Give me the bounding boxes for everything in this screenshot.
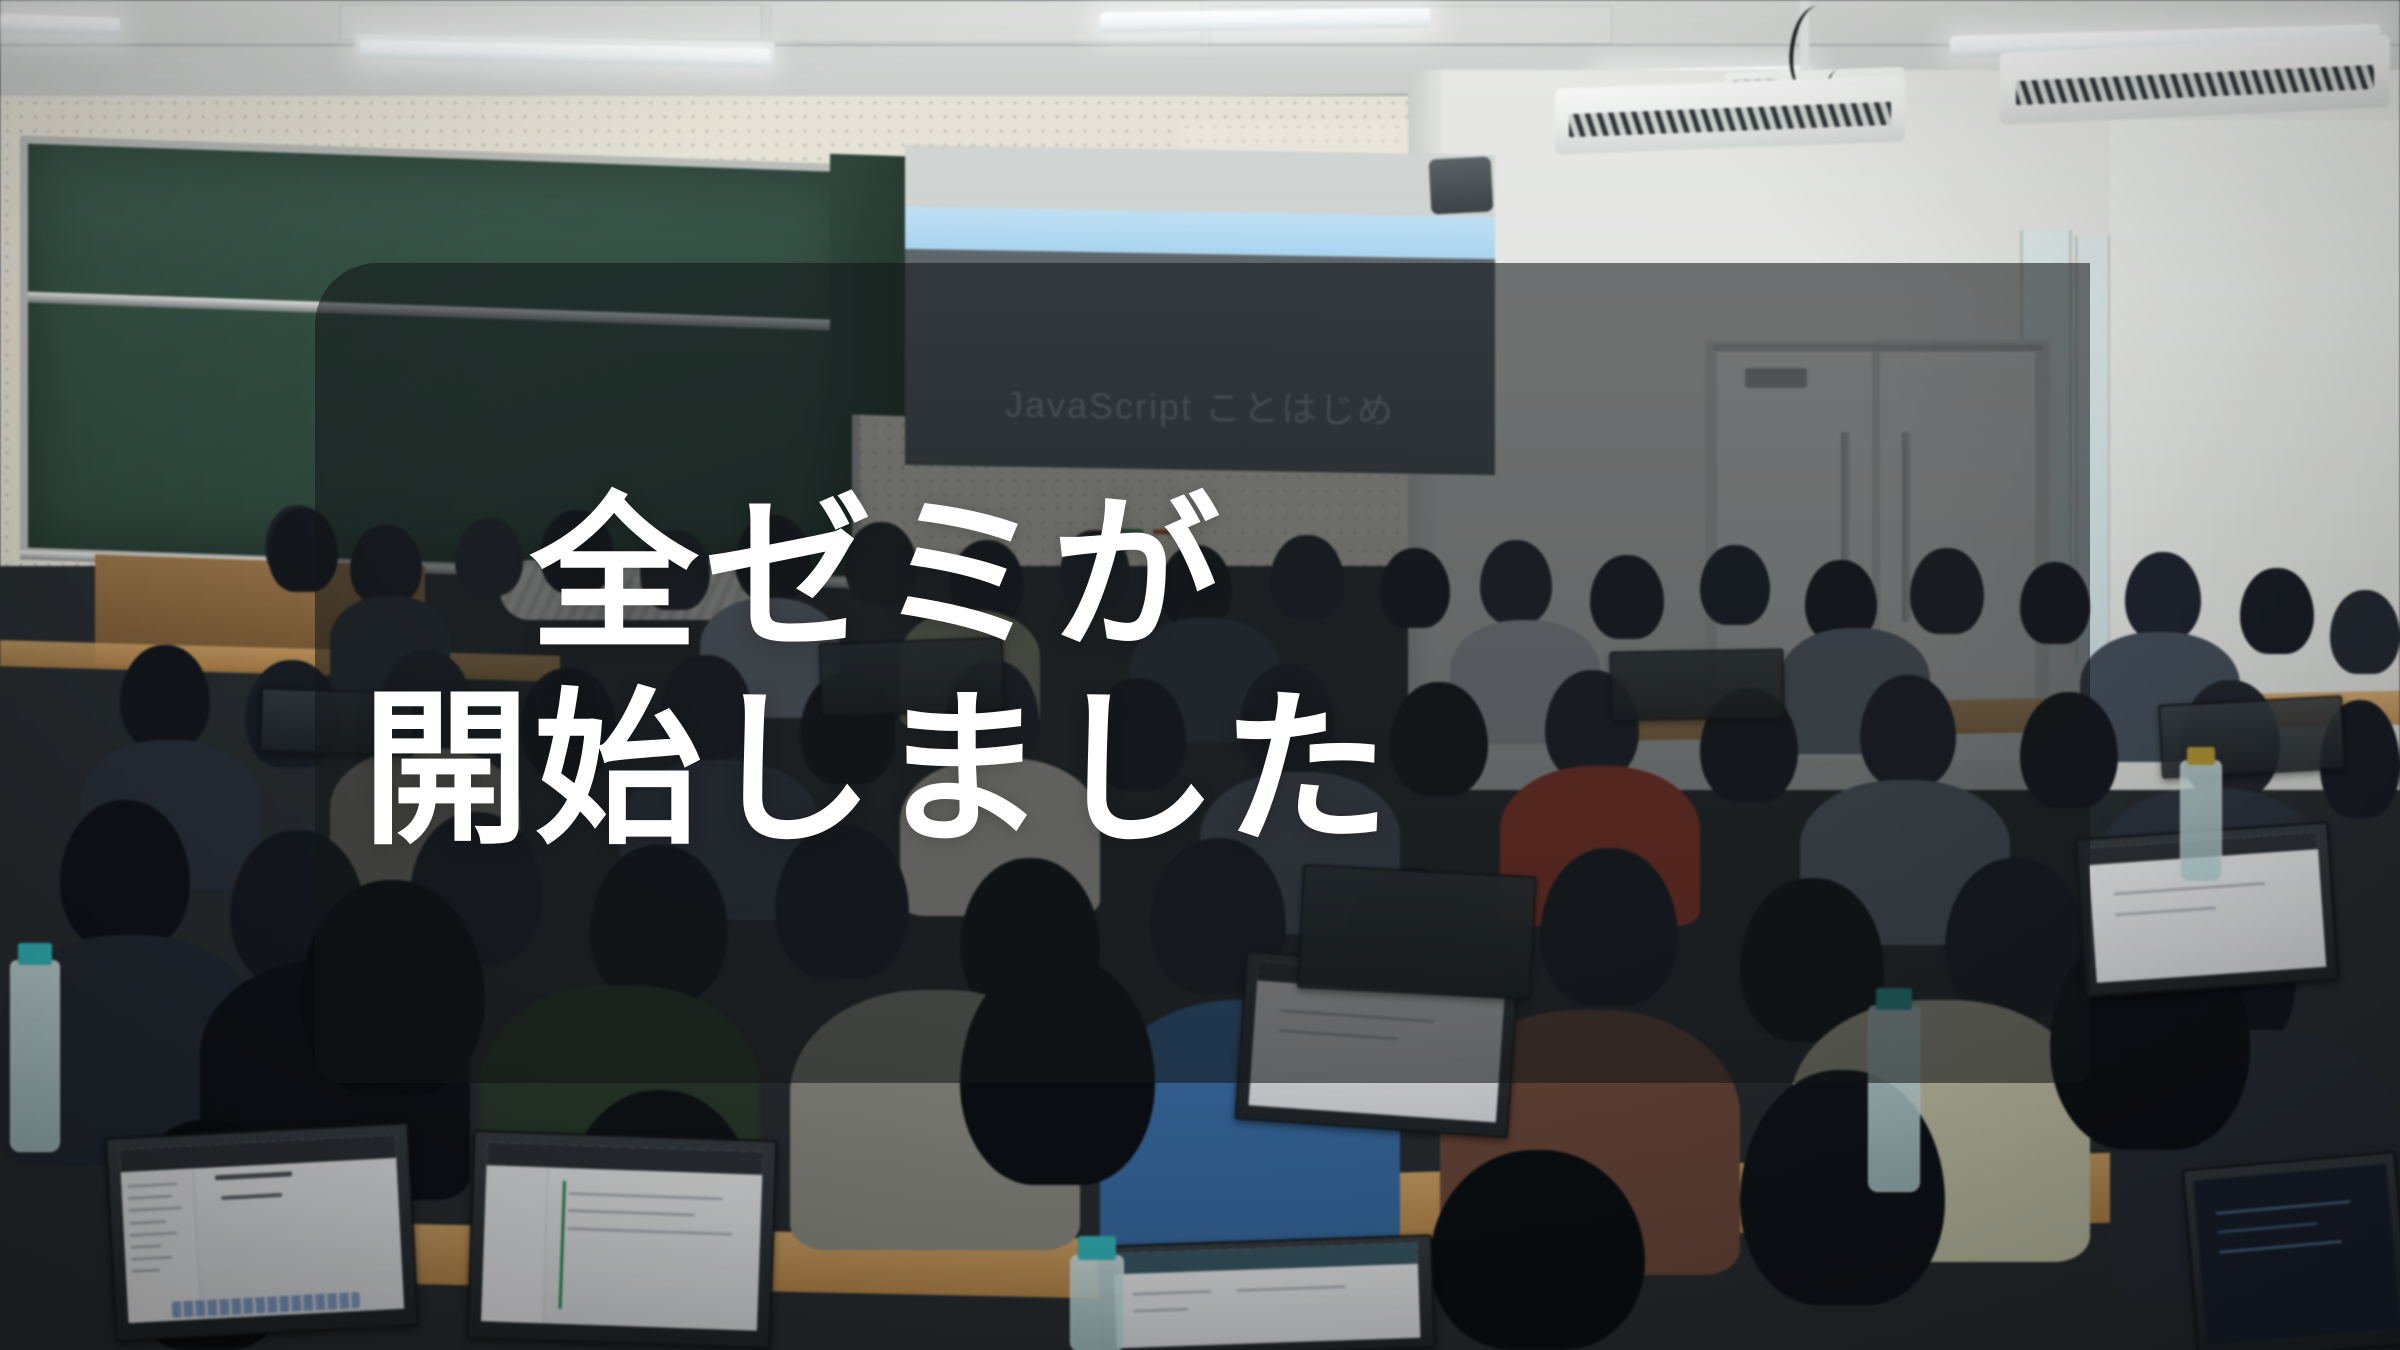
attendee-head xyxy=(60,800,190,950)
attendee-head-front xyxy=(1430,1150,1645,1350)
laptop-sidebar xyxy=(481,1166,548,1323)
laptop-screen xyxy=(481,1142,763,1330)
attendee-head xyxy=(2125,552,2201,640)
wall-speaker xyxy=(1429,156,1494,214)
headline-line-1: 全ゼミが xyxy=(530,478,2090,673)
laptop xyxy=(466,1130,777,1349)
water-bottle xyxy=(2180,760,2222,882)
laptop-screen xyxy=(1114,1242,1421,1348)
ac-grille-right xyxy=(2016,65,2375,106)
laptop-titlebar xyxy=(1114,1242,1418,1274)
water-bottle xyxy=(1070,1255,1124,1350)
headline-block: 全ゼミが 開始しました xyxy=(315,263,2090,1083)
water-bottle xyxy=(10,960,60,1152)
bottle-cap xyxy=(18,943,52,965)
bottle-cap xyxy=(1078,1236,1116,1260)
laptop-titlebar xyxy=(119,1135,396,1172)
attendee-head xyxy=(2240,568,2314,654)
headline-line-2: 開始しました xyxy=(362,673,2090,868)
attendee-head xyxy=(2330,590,2400,674)
laptop xyxy=(105,1122,419,1342)
attendee-head xyxy=(120,645,210,749)
ac-grille-left xyxy=(1569,102,1891,137)
laptop-screen xyxy=(2193,1163,2400,1345)
laptop-screen xyxy=(119,1135,404,1323)
air-conditioner-left xyxy=(1555,75,1905,154)
laptop xyxy=(2182,1151,2400,1350)
screenshot-canvas: JavaScript ことはじめ xyxy=(0,0,2400,1350)
laptop xyxy=(1098,1234,1436,1350)
bottle-cap xyxy=(2187,747,2215,765)
